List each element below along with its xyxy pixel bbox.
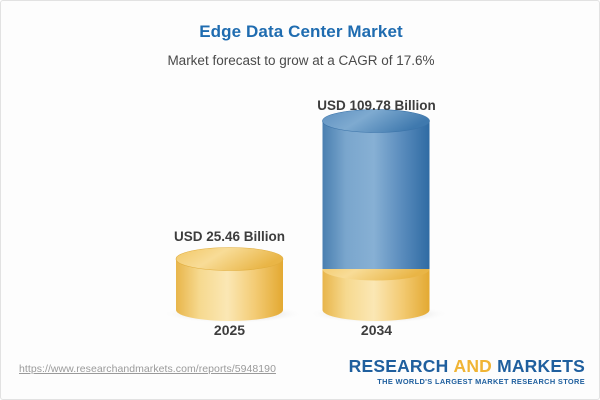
logo-word-research: RESEARCH [349, 356, 449, 376]
value-label-2034: USD 109.78 Billion [276, 98, 477, 114]
logo-word-markets: MARKETS [497, 356, 585, 376]
research-and-markets-logo[interactable]: RESEARCH AND MARKETS THE WORLD'S LARGEST… [349, 356, 585, 387]
category-label-2025: 2025 [169, 321, 290, 339]
bars-graphic [1, 1, 600, 351]
report-url-link[interactable]: https://www.researchandmarkets.com/repor… [19, 363, 276, 375]
value-label-2025: USD 25.46 Billion [129, 229, 330, 245]
logo-wordmark: RESEARCH AND MARKETS [349, 356, 585, 376]
chart-card: Edge Data Center Market Market forecast … [0, 0, 600, 400]
bar-2034 [323, 110, 430, 322]
logo-word-and: AND [453, 356, 492, 376]
bar-2025 [176, 248, 283, 322]
logo-tagline: THE WORLD'S LARGEST MARKET RESEARCH STOR… [349, 377, 585, 387]
chart-footer: https://www.researchandmarkets.com/repor… [1, 349, 600, 399]
chart-plot-area: USD 25.46 Billion USD 109.78 Billion 202… [1, 1, 600, 351]
category-label-2034: 2034 [316, 321, 437, 339]
